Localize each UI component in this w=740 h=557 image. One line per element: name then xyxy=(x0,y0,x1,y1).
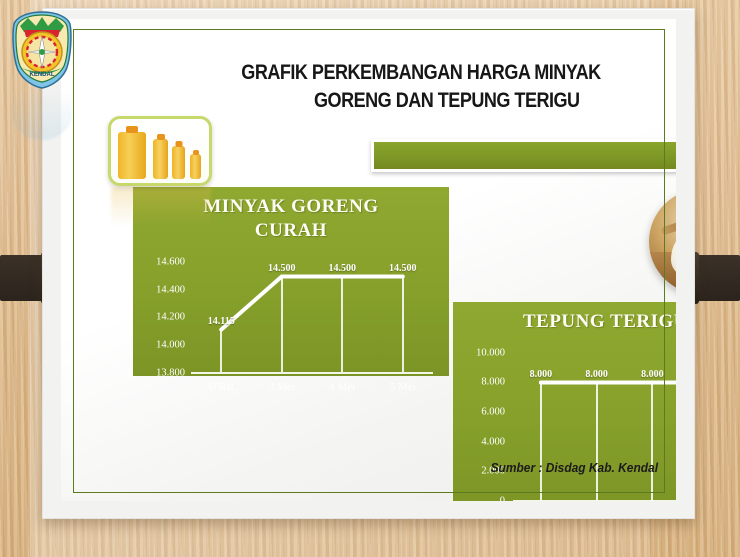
y-axis-minyak-goreng: 13.80014.00014.20014.40014.600 xyxy=(141,249,185,373)
wheat-flour-photo xyxy=(649,189,676,294)
data-point-label: 14.115 xyxy=(208,316,235,327)
y-tick-label: 14.000 xyxy=(156,339,185,350)
poster-frame: GRAFIK PERKEMBANGAN HARGA MINYAK GORENG … xyxy=(42,8,695,519)
plot-area-minyak-goreng: 14.11514.50014.50014.500 xyxy=(191,249,433,373)
data-point-label: 14.500 xyxy=(268,263,296,274)
cap-icon xyxy=(157,134,165,140)
x-tick-label: 5 Mei xyxy=(390,381,416,393)
oil-bottle-small-shape xyxy=(190,154,201,179)
page-title: GRAFIK PERKEMBANGAN HARGA MINYAK GORENG … xyxy=(215,59,628,114)
chart-title-tepung-terigu: TEPUNG TERIGU xyxy=(453,302,676,333)
oil-bottle-medium-shape xyxy=(172,146,185,179)
y-tick-label: 14.200 xyxy=(156,312,185,323)
plot-minyak-goreng: 13.80014.00014.20014.40014.600 14.11514.… xyxy=(141,249,439,373)
data-point-label: 8.000 xyxy=(641,369,664,380)
series-line xyxy=(513,341,676,501)
y-tick-label: 14.600 xyxy=(156,257,185,268)
wooden-scoop-shape xyxy=(660,219,676,236)
y-tick-label: 13.800 xyxy=(156,367,185,378)
frame-mount-right xyxy=(694,255,740,301)
x-tick-label: 4 Mei xyxy=(329,381,355,393)
kendal-regency-emblem-icon: KENDAL xyxy=(6,10,78,90)
emblem-reflection xyxy=(12,88,72,140)
y-tick-label: 0 xyxy=(500,496,505,502)
source-note: Sumber : Disdag Kab. Kendal xyxy=(491,460,658,475)
page-title-line-1: GRAFIK PERKEMBANGAN HARGA MINYAK xyxy=(215,59,628,87)
oil-jerrycan-shape xyxy=(118,132,146,179)
data-point-label: 14.500 xyxy=(389,263,417,274)
frame-mount-left xyxy=(0,255,46,301)
y-tick-label: 6.000 xyxy=(481,407,505,418)
cap-icon xyxy=(126,126,138,133)
poster-canvas: GRAFIK PERKEMBANGAN HARGA MINYAK GORENG … xyxy=(61,19,676,501)
y-axis-tepung-terigu: 02.0004.0006.0008.00010.000 xyxy=(461,341,505,501)
y-tick-label: 14.400 xyxy=(156,284,185,295)
data-point-label: 8.000 xyxy=(530,369,553,380)
x-tick-label: 3 Mei xyxy=(269,381,295,393)
y-tick-label: 10.000 xyxy=(476,347,505,358)
oil-bottle-large-shape xyxy=(153,139,168,179)
y-tick-label: 8.000 xyxy=(481,377,505,388)
data-point-label: 8.000 xyxy=(585,369,608,380)
green-banner[interactable] xyxy=(371,139,676,172)
x-tick-label: APRIL xyxy=(205,381,237,393)
plot-area-tepung-terigu: 8.0008.0008.0008.000 xyxy=(513,341,676,501)
page-title-line-2: GORENG DAN TEPUNG TERIGU xyxy=(215,87,628,115)
cap-icon xyxy=(193,150,199,155)
y-tick-label: 4.000 xyxy=(481,436,505,447)
cooking-oil-bottles-photo xyxy=(108,116,212,186)
cap-icon xyxy=(175,141,182,147)
data-point-label: 14.500 xyxy=(329,263,357,274)
cooking-oil-photo-reflection xyxy=(111,187,211,227)
plot-tepung-terigu: 02.0004.0006.0008.00010.000 8.0008.0008.… xyxy=(461,341,676,501)
svg-text:KENDAL: KENDAL xyxy=(30,72,55,78)
